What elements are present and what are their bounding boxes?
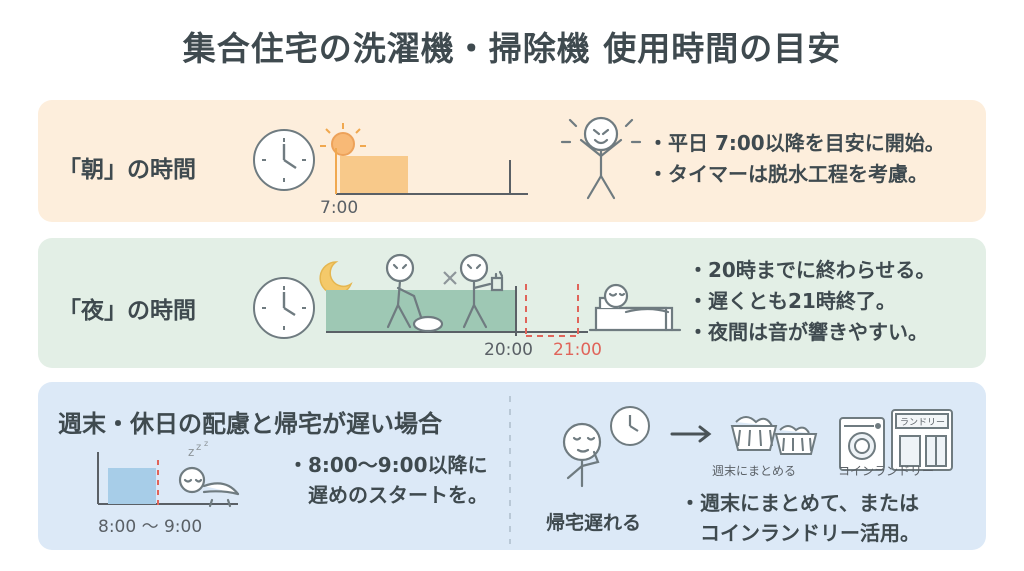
prohibited-x-icon: [444, 272, 456, 284]
section-label-weekend: 週末・休日の配慮と帰宅が遅い場合: [58, 404, 442, 439]
clock-icon: [254, 130, 314, 190]
svg-text:z: z: [204, 439, 208, 448]
weekend-left-illustration: z z z: [88, 440, 288, 518]
caption-coin-laundry: コインランドリー: [838, 462, 934, 479]
bullet-weekend-left-2: 遅めのスタートを。: [288, 480, 488, 510]
clock-icon: [611, 407, 649, 445]
svg-text:z: z: [196, 442, 201, 453]
bullet-weekend-left-1: ・8:00〜9:00以降に: [288, 450, 488, 480]
morning-tick-700: 7:00: [320, 198, 358, 218]
bullet-night-3: ・夜間は音が響きやすい。: [688, 317, 935, 348]
thinking-person-icon: [564, 424, 600, 486]
bullet-weekend-right-2: コインランドリー活用。: [680, 518, 920, 548]
bullet-night-2: ・遅くとも21時終了。: [688, 286, 935, 317]
moon-icon: [320, 262, 351, 294]
bullet-weekend-right-1: ・週末にまとめて、または: [680, 488, 920, 518]
cheering-person-icon: [556, 112, 646, 208]
morning-time-bar: [340, 156, 408, 194]
clock-icon: [254, 278, 314, 338]
infographic-page: 集合住宅の洗濯機・掃除機 使用時間の目安 「朝」の時間: [0, 0, 1024, 571]
caption-laundry-basket: 週末にまとめる: [712, 462, 796, 479]
svg-text:z: z: [188, 445, 194, 459]
night-tick-2000: 20:00: [484, 340, 533, 360]
bullets-weekend-left: ・8:00〜9:00以降に 遅めのスタートを。: [288, 450, 488, 510]
bullet-night-1: ・20時までに終わらせる。: [688, 255, 935, 286]
page-title: 集合住宅の洗濯機・掃除機 使用時間の目安: [0, 22, 1024, 70]
bullet-morning-2: ・タイマーは脱水工程を考慮。: [648, 159, 945, 190]
bullet-morning-1: ・平日 7:00以降を目安に開始。: [648, 128, 945, 159]
arrow-right-icon: [672, 427, 709, 441]
sleeping-person-bed-icon: [590, 285, 680, 330]
bullets-weekend-right: ・週末にまとめて、または コインランドリー活用。: [680, 488, 920, 548]
zzz-icon: z z z: [188, 439, 208, 459]
section-label-morning: 「朝」の時間: [58, 150, 196, 184]
sleeping-person-icon: [180, 468, 238, 506]
shop-sign-label: ランドリー: [900, 417, 945, 428]
night-illustration: [248, 252, 668, 352]
bullets-night: ・20時までに終わらせる。 ・遅くとも21時終了。 ・夜間は音が響きやすい。: [688, 255, 935, 348]
caption-late-home: 帰宅遅れる: [546, 508, 641, 535]
weekend-time-bar: [108, 468, 156, 504]
night-tick-2100: 21:00: [553, 340, 602, 360]
section-divider: [508, 396, 512, 544]
bullets-morning: ・平日 7:00以降を目安に開始。 ・タイマーは脱水工程を考慮。: [648, 128, 945, 190]
section-label-night: 「夜」の時間: [58, 291, 196, 325]
weekend-tick-range: 8:00 〜 9:00: [98, 512, 202, 537]
laundry-basket-icon: [732, 417, 816, 454]
sunrise-icon: [320, 123, 366, 155]
deadline-marker: [526, 284, 578, 336]
